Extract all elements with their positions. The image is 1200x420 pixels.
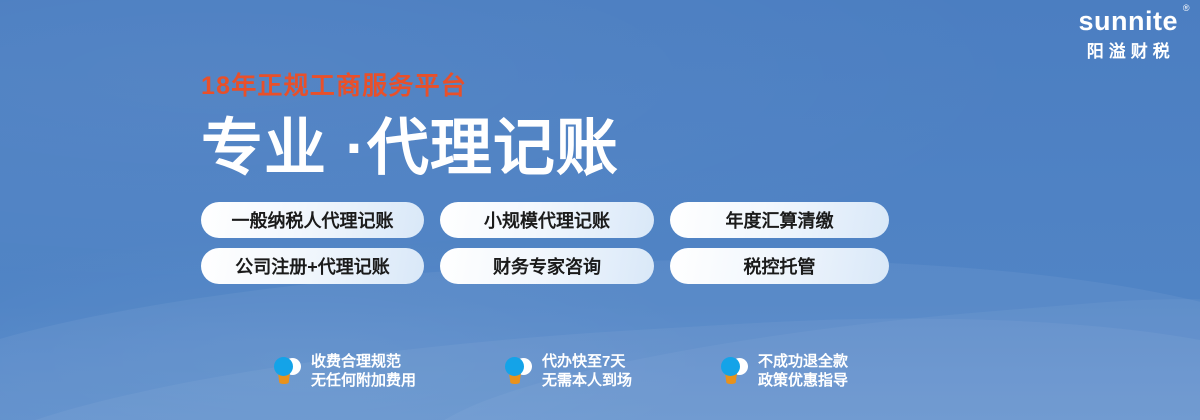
logo-wordmark: sunnite ® xyxy=(1078,8,1178,35)
logo-wordmark-text: sunnite xyxy=(1078,6,1178,36)
coin-cup-icon-circle xyxy=(505,357,524,376)
coin-cup-icon xyxy=(719,355,749,387)
feature-line-2: 无任何附加费用 xyxy=(311,372,416,389)
feature-list: 收费合理规范 无任何附加费用 代办快至7天 无需本人到场 不成功退全款 xyxy=(272,352,848,390)
feature-text: 收费合理规范 无任何附加费用 xyxy=(311,352,416,390)
service-pill[interactable]: 年度汇算清缴 xyxy=(670,202,889,238)
coin-cup-icon xyxy=(272,355,302,387)
logo-chinese-name: 阳溢财税 xyxy=(1078,43,1178,60)
feature-item: 收费合理规范 无任何附加费用 xyxy=(272,352,416,390)
feature-item: 不成功退全款 政策优惠指导 xyxy=(719,352,848,390)
feature-item: 代办快至7天 无需本人到场 xyxy=(503,352,632,390)
page-title: 专业 ·代理记账 xyxy=(201,118,619,180)
feature-line-1: 收费合理规范 xyxy=(311,353,401,370)
service-pill-row: 一般纳税人代理记账 小规模代理记账 年度汇算清缴 xyxy=(201,202,889,238)
feature-line-2: 政策优惠指导 xyxy=(758,372,848,389)
service-pill[interactable]: 一般纳税人代理记账 xyxy=(201,202,424,238)
feature-line-1: 不成功退全款 xyxy=(758,353,848,370)
service-pill[interactable]: 小规模代理记账 xyxy=(440,202,654,238)
coin-cup-icon-circle xyxy=(274,357,293,376)
feature-line-2: 无需本人到场 xyxy=(542,372,632,389)
service-pill-row: 公司注册+代理记账 财务专家咨询 税控托管 xyxy=(201,248,889,284)
registered-trademark-icon: ® xyxy=(1183,4,1190,13)
background-curve-band-3 xyxy=(416,279,1200,420)
eyebrow-text: 18年正规工商服务平台 xyxy=(201,74,619,99)
promo-banner: sunnite ® 阳溢财税 18年正规工商服务平台 专业 ·代理记账 一般纳税… xyxy=(0,0,1200,420)
service-pill[interactable]: 税控托管 xyxy=(670,248,889,284)
brand-logo[interactable]: sunnite ® 阳溢财税 xyxy=(1078,8,1178,60)
coin-cup-icon xyxy=(503,355,533,387)
feature-text: 不成功退全款 政策优惠指导 xyxy=(758,352,848,390)
feature-text: 代办快至7天 无需本人到场 xyxy=(542,352,632,390)
feature-line-1: 代办快至7天 xyxy=(542,353,625,370)
service-pill[interactable]: 财务专家咨询 xyxy=(440,248,654,284)
headline-block: 18年正规工商服务平台 专业 ·代理记账 xyxy=(201,74,619,180)
service-pill-grid: 一般纳税人代理记账 小规模代理记账 年度汇算清缴 公司注册+代理记账 财务专家咨… xyxy=(201,202,889,284)
service-pill[interactable]: 公司注册+代理记账 xyxy=(201,248,424,284)
coin-cup-icon-circle xyxy=(721,357,740,376)
